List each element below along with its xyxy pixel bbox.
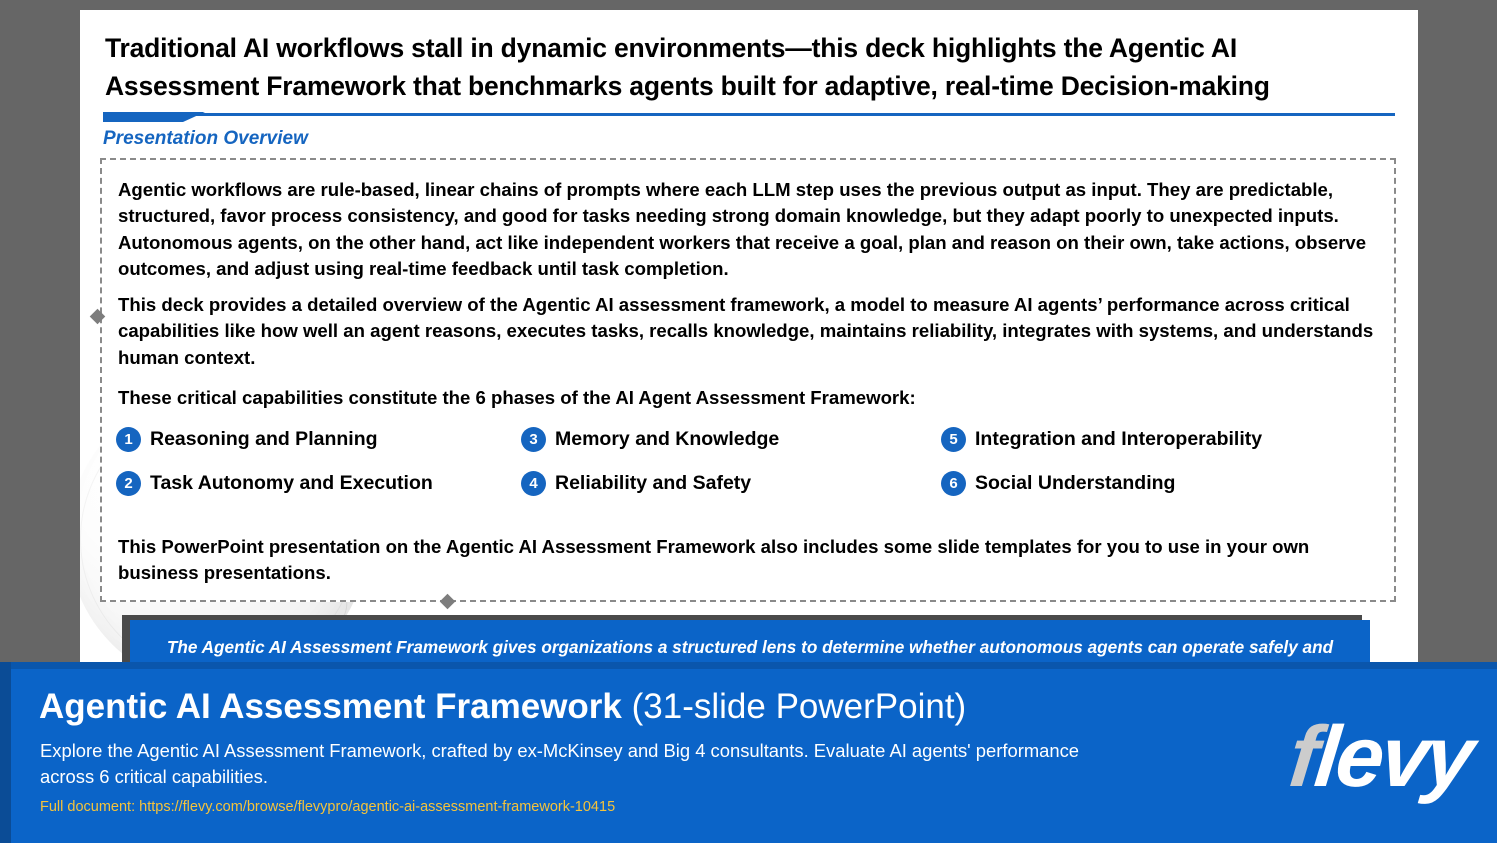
phase-item-6: 6 Social Understanding <box>941 471 1346 496</box>
banner-top-strip <box>0 662 1497 669</box>
phase-item-5: 5 Integration and Interoperability <box>941 427 1346 452</box>
banner-title-bold: Agentic AI Assessment Framework <box>39 687 622 726</box>
phase-number-badge: 4 <box>521 471 546 496</box>
banner-title: Agentic AI Assessment Framework (31-slid… <box>39 688 966 727</box>
phase-label: Social Understanding <box>975 472 1175 495</box>
banner-document-link[interactable]: Full document: https://flevy.com/browse/… <box>40 799 615 815</box>
phase-item-2: 2 Task Autonomy and Execution <box>116 471 521 496</box>
slide-title: Traditional AI workflows stall in dynami… <box>105 30 1395 105</box>
overview-paragraph-1: Agentic workflows are rule-based, linear… <box>118 177 1380 282</box>
divider-thin-line <box>103 113 1395 116</box>
flevy-banner: Agentic AI Assessment Framework (31-slid… <box>0 662 1497 843</box>
phase-label: Task Autonomy and Execution <box>150 472 433 495</box>
phase-item-4: 4 Reliability and Safety <box>521 471 941 496</box>
title-divider <box>103 109 1395 122</box>
banner-description: Explore the Agentic AI Assessment Framew… <box>40 738 1080 790</box>
divider-taper-shape <box>183 112 205 122</box>
phase-label: Integration and Interoperability <box>975 428 1262 451</box>
logo-letters-levy: levy <box>1311 709 1476 805</box>
phase-number-badge: 1 <box>116 427 141 452</box>
phase-number-badge: 5 <box>941 427 966 452</box>
key-message-callout: The Agentic AI Assessment Framework give… <box>130 620 1370 665</box>
banner-left-edge <box>0 662 11 843</box>
slide-subtitle: Presentation Overview <box>103 128 308 150</box>
slide-canvas: Traditional AI workflows stall in dynami… <box>80 10 1418 665</box>
overview-paragraph-3: These critical capabilities constitute t… <box>118 385 1118 411</box>
phase-number-badge: 2 <box>116 471 141 496</box>
phase-number-badge: 6 <box>941 471 966 496</box>
phase-item-1: 1 Reasoning and Planning <box>116 427 521 452</box>
phases-list: 1 Reasoning and Planning 3 Memory and Kn… <box>116 427 1346 515</box>
phase-number-badge: 3 <box>521 427 546 452</box>
phases-row-top: 1 Reasoning and Planning 3 Memory and Kn… <box>116 427 1346 452</box>
flevy-logo: flevy <box>1285 714 1475 800</box>
overview-paragraph-4: This PowerPoint presentation on the Agen… <box>118 534 1380 587</box>
phase-item-3: 3 Memory and Knowledge <box>521 427 941 452</box>
phase-label: Reliability and Safety <box>555 472 751 495</box>
phase-label: Reasoning and Planning <box>150 428 378 451</box>
overview-paragraph-2: This deck provides a detailed overview o… <box>118 292 1390 371</box>
callout-text: The Agentic AI Assessment Framework give… <box>160 635 1340 665</box>
divider-thick-segment <box>103 112 183 122</box>
phases-row-bottom: 2 Task Autonomy and Execution 4 Reliabil… <box>116 471 1346 496</box>
phase-label: Memory and Knowledge <box>555 428 779 451</box>
banner-title-light: (31-slide PowerPoint) <box>622 687 966 726</box>
